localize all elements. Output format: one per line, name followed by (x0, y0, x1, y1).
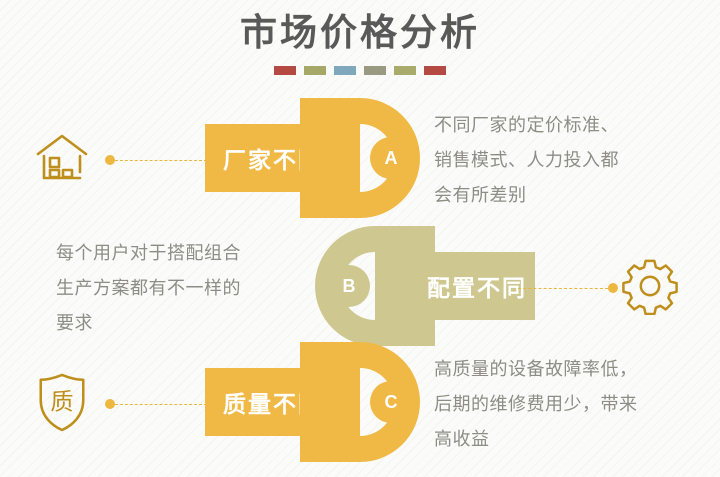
connector-dash-b (518, 288, 608, 289)
description-line: 后期的维修费用少，带来 (434, 387, 638, 422)
dash-gray (364, 66, 386, 75)
description-line: 生产方案都有不一样的 (56, 271, 241, 306)
badge-letter-a: A (385, 149, 398, 167)
description-line: 要求 (56, 306, 241, 341)
page-title: 市场价格分析 (0, 8, 720, 58)
description-text-c: 高质量的设备故障率低， 后期的维修费用少，带来 高收益 (434, 352, 638, 457)
label-bar-text-b: 配置不同 (427, 269, 527, 303)
connector-dash-c (115, 404, 207, 405)
badge-letter-b: B (343, 277, 356, 295)
connector-line-c (105, 399, 207, 409)
row-item-c: 质 质量不同 C 高质量的设备故障率低， 后期的维修费用少，带来 高收益 (0, 342, 720, 462)
decorative-dash-row (0, 66, 720, 75)
description-line: 每个用户对于搭配组合 (56, 236, 241, 271)
connector-dot-c (105, 399, 115, 409)
badge-circle-c[interactable]: C (370, 381, 412, 423)
dash-red-2 (424, 66, 446, 75)
badge-circle-b[interactable]: B (328, 265, 370, 307)
factory-house-icon (26, 122, 98, 194)
description-text-b: 每个用户对于搭配组合 生产方案都有不一样的 要求 (56, 236, 241, 341)
dash-red-1 (274, 66, 296, 75)
dash-blue (334, 66, 356, 75)
badge-circle-a[interactable]: A (370, 137, 412, 179)
description-line: 会有所差别 (434, 178, 619, 213)
gear-icon (614, 250, 686, 322)
label-bar-b[interactable]: 配置不同 (415, 252, 535, 320)
connector-line-a (105, 155, 207, 165)
row-item-b: 每个用户对于搭配组合 生产方案都有不一样的 要求 B 配置不同 (0, 226, 720, 346)
description-line: 高质量的设备故障率低， (434, 352, 638, 387)
dash-olive-1 (304, 66, 326, 75)
infographic-page: 市场价格分析 厂家不同 (0, 0, 720, 477)
description-line: 不同厂家的定价标准、 (434, 108, 619, 143)
header: 市场价格分析 (0, 8, 720, 75)
dash-olive-2 (394, 66, 416, 75)
description-line: 销售模式、人力投入都 (434, 143, 619, 178)
description-text-a: 不同厂家的定价标准、 销售模式、人力投入都 会有所差别 (434, 108, 619, 213)
row-item-a: 厂家不同 A 不同厂家的定价标准、 销售模式、人力投入都 会有所差别 (0, 98, 720, 218)
connector-dash-a (115, 160, 207, 161)
description-line: 高收益 (434, 422, 638, 457)
quality-shield-icon: 质 (26, 366, 98, 438)
connector-line-b (518, 283, 618, 293)
connector-dot-a (105, 155, 115, 165)
badge-letter-c: C (385, 393, 398, 411)
shield-glyph: 质 (50, 389, 73, 416)
